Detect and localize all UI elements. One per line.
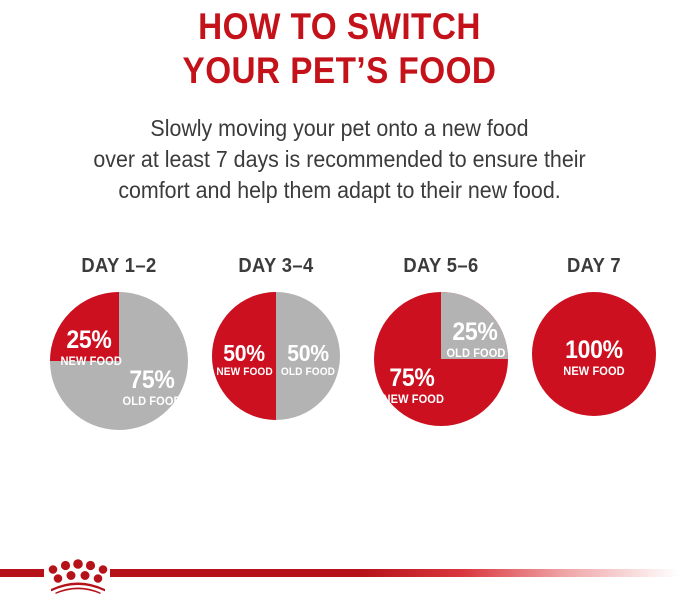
pie-label-day-7: DAY 7	[526, 255, 662, 278]
pie-chart-day-5-6: 25% OLD FOOD 75% NEW FOOD	[374, 292, 508, 426]
page-title: HOW TO SWITCH YOUR PET’S FOOD	[34, 0, 645, 93]
pie-label-day-5-6: DAY 5–6	[366, 255, 515, 278]
intro-line-2: over at least 7 days is recommended to e…	[24, 144, 655, 175]
pie-chart-day-7: 100% NEW FOOD	[532, 292, 656, 416]
pie-chart-day-1-2: 25% NEW FOOD 75% OLD FOOD	[50, 292, 188, 430]
pie-group-day-7: DAY 7 100% NEW FOOD	[520, 255, 668, 416]
footer	[0, 556, 679, 594]
pie-label-day-1-2: DAY 1–2	[41, 255, 197, 278]
royal-canin-crown-logo-icon	[42, 556, 114, 594]
pie-group-day-1-2: DAY 1–2 25% NEW FOOD 75% OLD FOOD	[34, 255, 204, 430]
intro-line-1: Slowly moving your pet onto a new food	[24, 113, 655, 144]
intro-line-3: comfort and help them adapt to their new…	[24, 175, 655, 206]
pie-chart-day-3-4: 50% NEW FOOD 50% OLD FOOD	[212, 292, 340, 420]
footer-rule-right	[110, 569, 679, 577]
page-title-line-2: YOUR PET’S FOOD	[34, 49, 645, 93]
footer-rule-left	[0, 569, 44, 577]
pie-chart-row: DAY 1–2 25% NEW FOOD 75% OLD FOOD DAY 3–…	[0, 255, 679, 455]
pie-label-day-3-4: DAY 3–4	[202, 255, 349, 278]
intro-paragraph: Slowly moving your pet onto a new food o…	[24, 113, 655, 206]
page-title-line-1: HOW TO SWITCH	[34, 0, 645, 49]
pie-group-day-5-6: DAY 5–6 25% OLD FOOD 75% NEW FOOD	[360, 255, 522, 426]
pie-group-day-3-4: DAY 3–4 50% NEW FOOD 50% OLD FOOD	[196, 255, 356, 420]
